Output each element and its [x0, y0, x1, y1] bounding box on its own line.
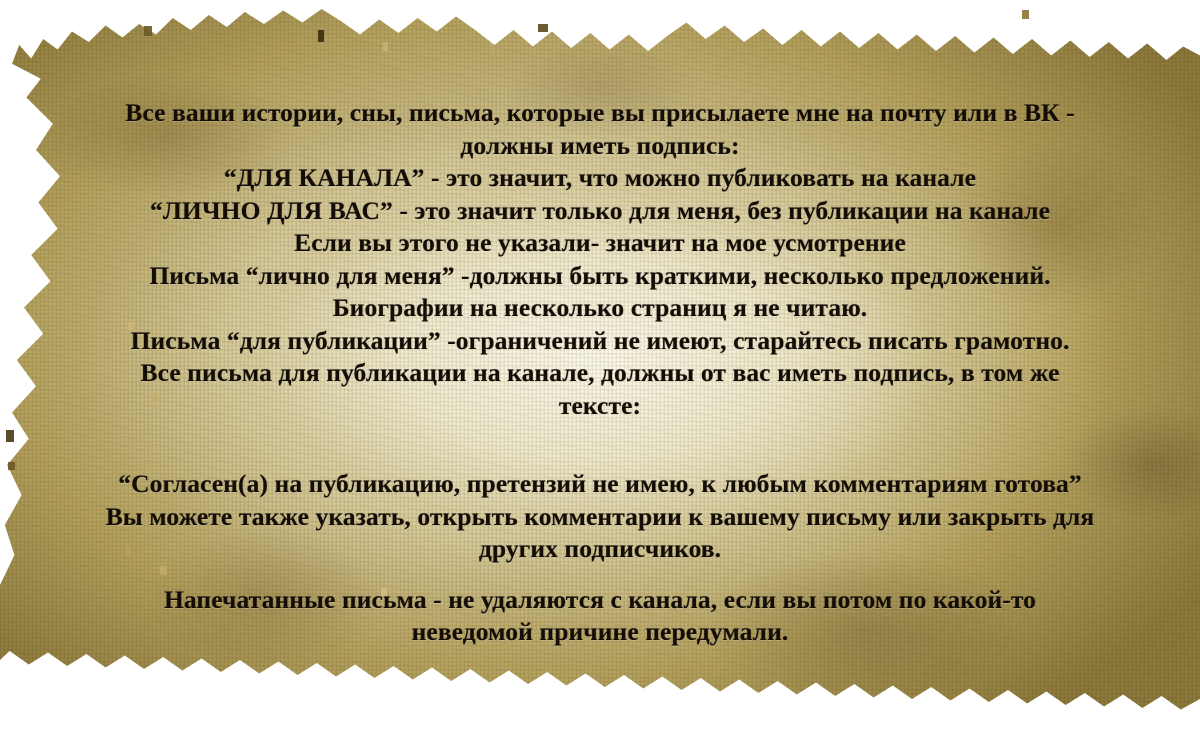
footer-block: Напечатанные письма - не удаляются с кан…: [30, 584, 1170, 649]
rule-line-7: Все письма для публикации на канале, дол…: [30, 357, 1170, 390]
footer-line-2: неведомой причине передумали.: [30, 616, 1170, 649]
footer-line-1: Напечатанные письма - не удаляются с кан…: [30, 584, 1170, 617]
parchment-scene: Все ваши истории, сны, письма, которые в…: [0, 0, 1200, 750]
notice-text-body: Все ваши истории, сны, письма, которые в…: [0, 0, 1200, 750]
rule-line-6: Письма “для публикации” -ограничений не …: [30, 325, 1170, 358]
rule-line-8: тексте:: [30, 390, 1170, 423]
rule-line-3: Если вы этого не указали- значит на мое …: [30, 227, 1170, 260]
consent-line-2: Вы можете также указать, открыть коммент…: [30, 501, 1170, 534]
intro-block: Все ваши истории, сны, письма, которые в…: [30, 97, 1170, 162]
rules-block: “ДЛЯ КАНАЛА” - это значит, что можно пуб…: [30, 162, 1170, 422]
consent-quote: “Согласен(а) на публикацию, претензий не…: [30, 468, 1170, 501]
rule-line-5: Биографии на несколько страниц я не чита…: [30, 292, 1170, 325]
consent-line-3: других подписчиков.: [30, 533, 1170, 566]
rule-line-1: “ДЛЯ КАНАЛА” - это значит, что можно пуб…: [30, 162, 1170, 195]
rule-line-2: “ЛИЧНО ДЛЯ ВАС” - это значит только для …: [30, 195, 1170, 228]
consent-block: “Согласен(а) на публикацию, претензий не…: [30, 468, 1170, 566]
intro-line-1: Все ваши истории, сны, письма, которые в…: [30, 97, 1170, 130]
intro-line-2: должны иметь подпись:: [30, 130, 1170, 163]
rule-line-4: Письма “лично для меня” -должны быть кра…: [30, 260, 1170, 293]
